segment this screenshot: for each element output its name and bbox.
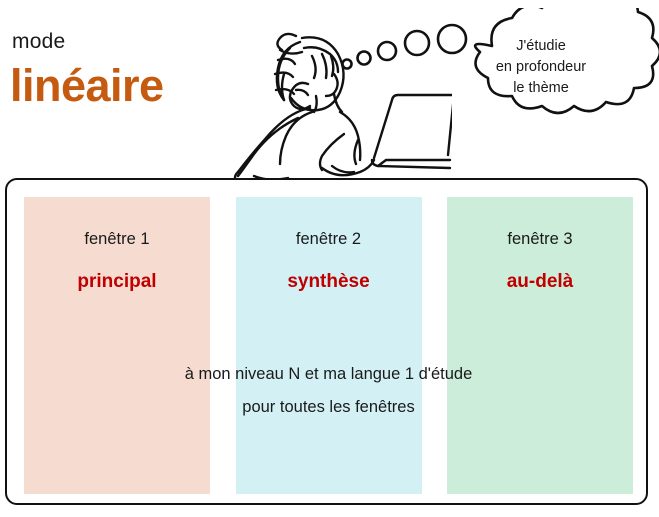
thought-line-2: en profondeur xyxy=(455,57,627,78)
thought-dot-3 xyxy=(378,42,396,60)
thought-line-1: J'étudie xyxy=(455,36,627,57)
mode-card: fenêtre 1 principal fenêtre 2 synthèse f… xyxy=(5,178,648,505)
hair-bun-stroke xyxy=(277,34,296,50)
thought-line-3: le thème xyxy=(455,78,627,99)
thought-bubble-text: J'étudie en profondeur le thème xyxy=(455,36,627,99)
mode-label: mode xyxy=(12,30,65,54)
thought-dot-2 xyxy=(358,52,371,65)
window-column-fenetre-1[interactable]: fenêtre 1 principal xyxy=(24,197,210,494)
window-column-fenetre-3[interactable]: fenêtre 3 au-delà xyxy=(447,197,633,494)
window-title-1: fenêtre 1 xyxy=(24,229,210,249)
mode-value-lineaire: linéaire xyxy=(10,60,164,112)
window-keyword-2: synthèse xyxy=(236,270,422,294)
window-title-2: fenêtre 2 xyxy=(236,229,422,249)
windows-columns: fenêtre 1 principal fenêtre 2 synthèse f… xyxy=(24,197,633,494)
window-column-fenetre-2[interactable]: fenêtre 2 synthèse xyxy=(236,197,422,494)
window-keyword-3: au-delà xyxy=(447,270,633,294)
window-title-3: fenêtre 3 xyxy=(447,229,633,249)
window-keyword-1: principal xyxy=(24,270,210,294)
thought-dot-1 xyxy=(343,60,352,69)
thought-dot-4 xyxy=(405,31,429,55)
header-area: mode linéaire xyxy=(0,0,659,175)
